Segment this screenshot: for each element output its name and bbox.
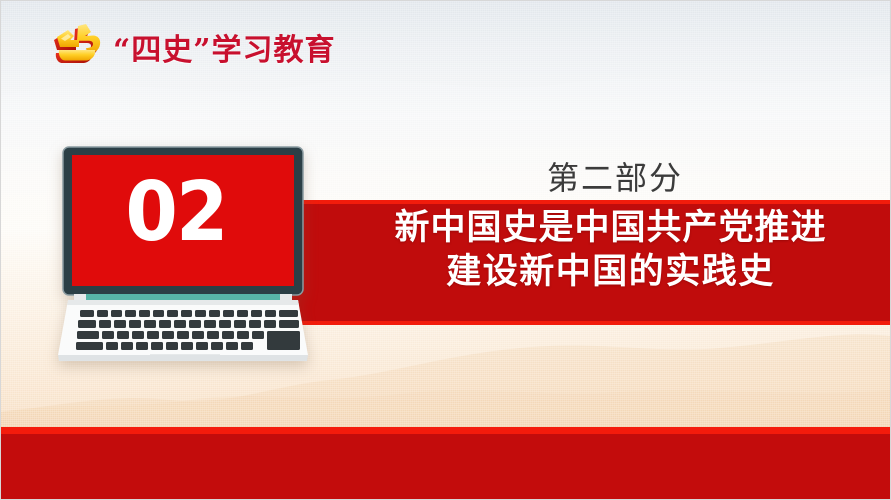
headline-line-1: 新中国史是中国共产党推进 [344,206,877,250]
headline-banner: 新中国史是中国共产党推进 建设新中国的实践史 [292,200,891,325]
ccp-hammer-sickle-emblem-icon [48,22,104,72]
bottom-red-band [0,434,891,500]
screen-number: 02 [69,158,282,268]
slide-canvas: “四史”学习教育 新中国史是中国共产党推进 建设新中国的实践史 第二部分 [0,0,891,500]
headline-line-2: 建设新中国的实践史 [344,250,877,294]
headline-text: 新中国史是中国共产党推进 建设新中国的实践史 [292,206,891,295]
header-title: “四史”学习教育 [113,25,336,69]
section-label: 第二部分 [400,153,830,199]
header: “四史”学习教育 [48,22,336,72]
bottom-accent-stripe [0,427,891,434]
